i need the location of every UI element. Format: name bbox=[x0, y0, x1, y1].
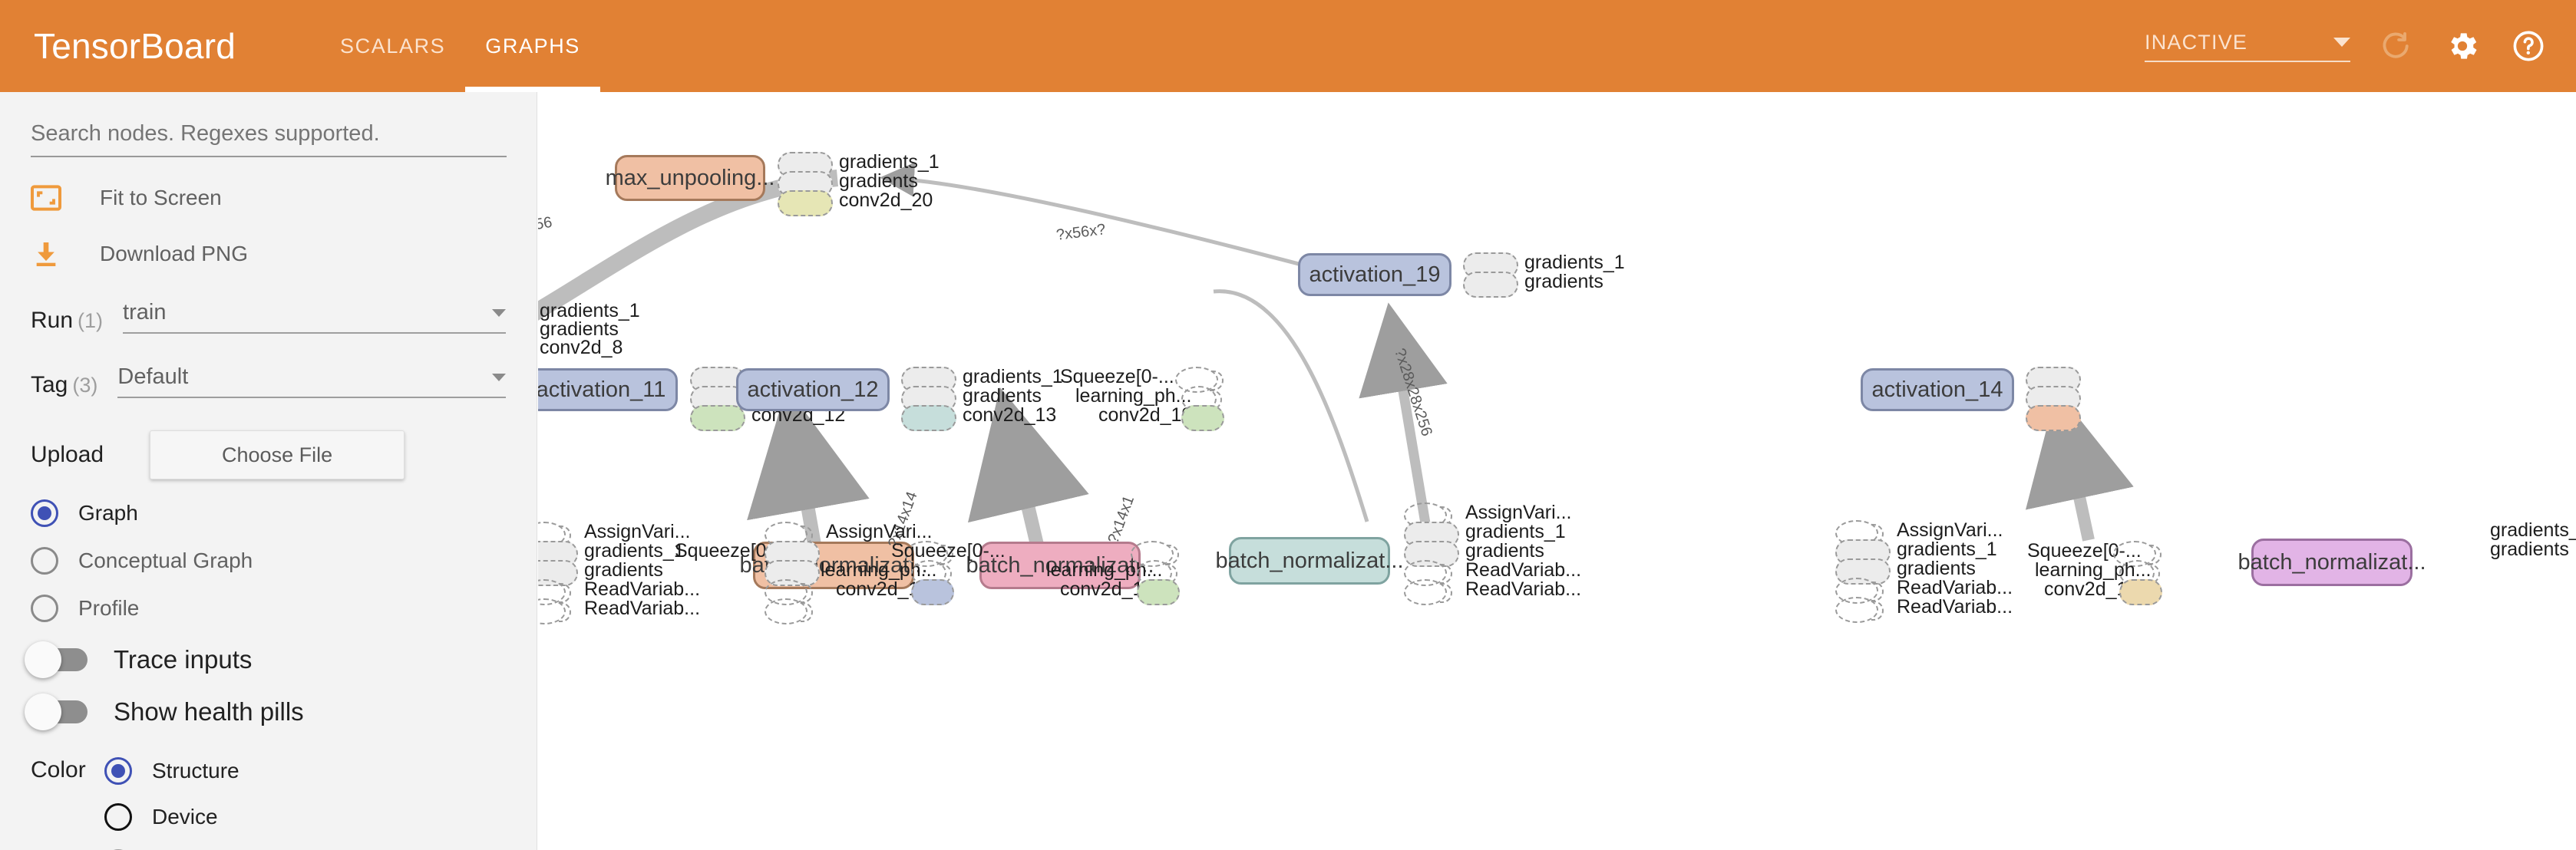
fit-to-screen-icon bbox=[31, 185, 75, 211]
tag-dropdown[interactable]: Default bbox=[117, 364, 506, 398]
op-label-squeeze: Squeeze[0-... bbox=[891, 540, 1006, 562]
run-dropdown[interactable]: train bbox=[123, 300, 506, 334]
tag-count: (3) bbox=[72, 374, 97, 397]
op-pill-conv2d-12[interactable] bbox=[1137, 579, 1180, 605]
tab-graphs[interactable]: GRAPHS bbox=[465, 0, 600, 92]
run-count: (1) bbox=[78, 309, 103, 332]
op-pill-gradients[interactable] bbox=[1463, 272, 1518, 298]
op-label-conv2d-8: conv2d_8 bbox=[540, 337, 623, 359]
color-label: Color bbox=[31, 757, 98, 850]
fit-to-screen-button[interactable]: Fit to Screen bbox=[31, 185, 506, 211]
show-health-pills-toggle[interactable]: Show health pills bbox=[31, 697, 506, 726]
upload-label: Upload bbox=[31, 442, 104, 468]
edge-label-shape: ?x56x? bbox=[1055, 221, 1107, 245]
show-health-pills-switch bbox=[31, 700, 88, 723]
radio-color-device-indicator bbox=[104, 803, 132, 831]
run-label-text: Run bbox=[31, 308, 73, 333]
app-brand: TensorBoard bbox=[34, 25, 236, 67]
upload-row: Upload Choose File bbox=[31, 430, 506, 479]
trace-inputs-label: Trace inputs bbox=[114, 645, 252, 674]
graph-node-max-unpooling[interactable]: max_unpooling... bbox=[615, 155, 765, 201]
trace-inputs-switch bbox=[31, 648, 88, 671]
header-actions: INACTIVE bbox=[2145, 26, 2576, 66]
op-label-read-variable: ReadVariab... bbox=[584, 598, 700, 620]
op-pill-conv2d[interactable] bbox=[2026, 405, 2081, 431]
radio-color-structure[interactable]: Structure bbox=[104, 757, 266, 785]
radio-profile[interactable]: Profile bbox=[31, 595, 506, 622]
search-input[interactable] bbox=[31, 121, 507, 157]
op-pill-conv2d-12[interactable] bbox=[690, 405, 745, 431]
op-pill-read-variable[interactable] bbox=[1835, 597, 1878, 623]
chevron-down-icon bbox=[492, 309, 506, 317]
run-selector-row: Run(1) train bbox=[31, 300, 506, 334]
op-label-read-variable: ReadVariab... bbox=[1465, 578, 1581, 601]
color-section: Color Structure Device XLA Cluster bbox=[31, 757, 506, 850]
op-pill-conv2d-14[interactable] bbox=[2119, 579, 2162, 605]
radio-color-device[interactable]: Device bbox=[104, 803, 266, 831]
op-pill-conv2d-19[interactable] bbox=[1181, 405, 1224, 431]
graph-node-activation-11[interactable]: activation_11 bbox=[538, 368, 678, 411]
radio-color-device-label: Device bbox=[152, 805, 218, 829]
left-sidebar: Fit to Screen Download PNG Run(1) tr bbox=[0, 92, 537, 850]
reload-icon[interactable] bbox=[2376, 26, 2416, 66]
op-pill-conv2d-20[interactable] bbox=[778, 190, 833, 216]
run-status-dropdown[interactable]: INACTIVE bbox=[2145, 31, 2350, 62]
edge-label-shape: ?x14x1 bbox=[1105, 493, 1138, 545]
download-png-label: Download PNG bbox=[100, 242, 248, 266]
run-label: Run(1) bbox=[31, 308, 103, 334]
run-value: train bbox=[123, 300, 166, 325]
edge-label-shape: ?x28x28x256 bbox=[1390, 346, 1435, 438]
radio-color-structure-label: Structure bbox=[152, 759, 239, 783]
show-health-pills-label: Show health pills bbox=[114, 697, 304, 726]
graph-node-activation-19[interactable]: activation_19 bbox=[1298, 253, 1451, 296]
graph-node-activation-12[interactable]: activation_12 bbox=[736, 368, 890, 411]
op-pill-read-variable[interactable] bbox=[538, 598, 566, 624]
op-label-conv2d-19: conv2d_19 bbox=[1098, 404, 1192, 427]
graph-node-batch-normalization-14[interactable]: batch_normalizat... bbox=[2251, 539, 2413, 586]
op-label-conv2d-20: conv2d_20 bbox=[839, 189, 933, 212]
op-label-read-variable: ReadVariab... bbox=[1897, 596, 2013, 618]
radio-profile-indicator bbox=[31, 595, 58, 622]
radio-color-structure-indicator bbox=[104, 757, 132, 785]
op-pill-read-variable[interactable] bbox=[1404, 579, 1447, 605]
tag-selector-row: Tag(3) Default bbox=[31, 364, 506, 398]
tag-label-text: Tag bbox=[31, 372, 68, 397]
download-png-button[interactable]: Download PNG bbox=[31, 239, 506, 269]
trace-inputs-toggle[interactable]: Trace inputs bbox=[31, 645, 506, 674]
tab-scalars[interactable]: SCALARS bbox=[320, 0, 465, 92]
run-status-value: INACTIVE bbox=[2145, 31, 2247, 54]
op-label-gradients: gradients bbox=[2490, 539, 2569, 561]
help-icon[interactable] bbox=[2508, 26, 2548, 66]
op-label-conv2d-13: conv2d_13 bbox=[963, 404, 1056, 427]
fit-to-screen-label: Fit to Screen bbox=[100, 186, 222, 210]
search-field-wrap bbox=[31, 121, 506, 157]
download-icon bbox=[31, 239, 75, 269]
tag-value: Default bbox=[117, 364, 188, 390]
graph-node-batch-normalization-19[interactable]: batch_normalizat... bbox=[1229, 537, 1390, 585]
choose-file-button[interactable]: Choose File bbox=[150, 430, 405, 479]
chevron-down-icon bbox=[2333, 38, 2350, 47]
op-label-gradients: gradients bbox=[1524, 271, 1603, 293]
radio-conceptual-graph-indicator bbox=[31, 547, 58, 575]
graph-node-activation-14[interactable]: activation_14 bbox=[1861, 368, 2014, 411]
radio-graph[interactable]: Graph bbox=[31, 499, 506, 527]
top-nav-tabs: SCALARS GRAPHS bbox=[320, 0, 600, 92]
op-pill-conv2d-11[interactable] bbox=[911, 579, 954, 605]
graph-canvas[interactable]: max_unpooling... gradients_1 gradients c… bbox=[538, 92, 2576, 850]
radio-conceptual-graph[interactable]: Conceptual Graph bbox=[31, 547, 506, 575]
edge-label-shape: ?x28x28x256 bbox=[538, 214, 553, 245]
tag-label: Tag(3) bbox=[31, 372, 97, 398]
op-pill-conv2d-13[interactable] bbox=[901, 405, 956, 431]
radio-conceptual-graph-label: Conceptual Graph bbox=[78, 549, 253, 573]
radio-graph-indicator bbox=[31, 499, 58, 527]
op-pill-read-variable[interactable] bbox=[765, 598, 807, 624]
chevron-down-icon bbox=[492, 374, 506, 381]
radio-graph-label: Graph bbox=[78, 501, 138, 525]
radio-profile-label: Profile bbox=[78, 596, 139, 621]
app-header: TensorBoard SCALARS GRAPHS INACTIVE bbox=[0, 0, 2576, 92]
gear-icon[interactable] bbox=[2442, 26, 2482, 66]
